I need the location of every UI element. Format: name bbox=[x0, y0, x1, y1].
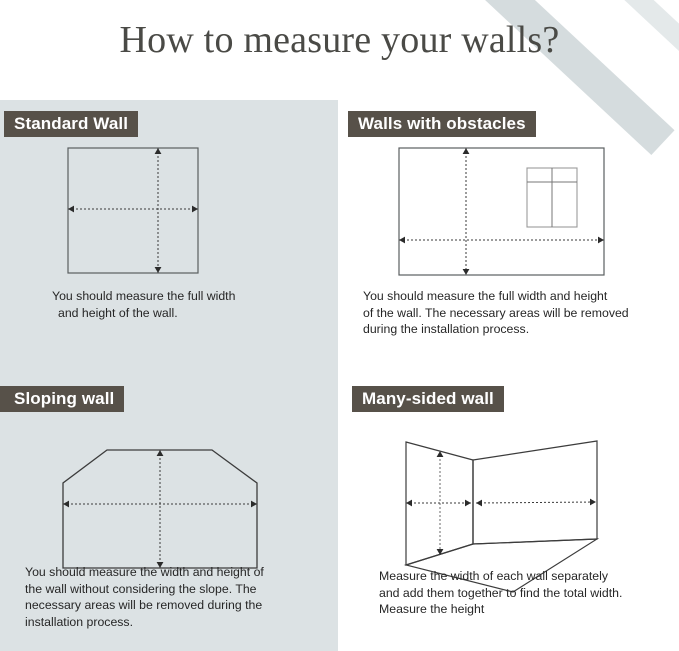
corner-right-width-dimension-line bbox=[476, 502, 596, 503]
caption-line: Measure the height bbox=[379, 601, 659, 618]
corner-left-width-arrow-end bbox=[465, 500, 471, 507]
corner-right-width-arrow-end bbox=[590, 499, 596, 506]
caption-line: Measure the width of each wall separatel… bbox=[379, 568, 659, 585]
corner-right-width-arrow-start bbox=[476, 500, 482, 507]
caption-line: and add them together to find the total … bbox=[379, 585, 659, 602]
infographic-root: How to measure your walls? Standard Wall… bbox=[0, 0, 679, 651]
corner-right-wall bbox=[473, 441, 597, 544]
figure-many-sided-wall bbox=[0, 20, 679, 651]
corner-left-width-arrow-start bbox=[406, 500, 412, 507]
caption-many-sided-wall: Measure the width of each wall separatel… bbox=[379, 568, 659, 618]
